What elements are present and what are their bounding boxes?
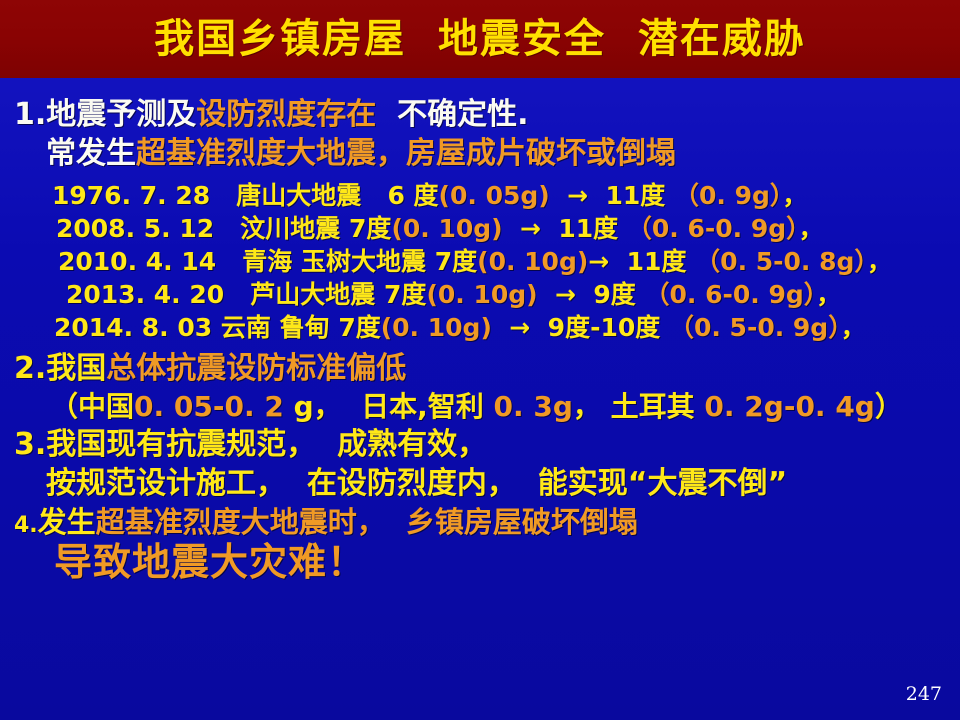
quake-1-date: 1976. 7. 28 <box>52 181 210 210</box>
quake-1-actual-g: （0. 9g） <box>674 181 782 210</box>
item-2-sub-open: （中国 <box>50 390 134 423</box>
quake-2-design-degree: 7度 <box>349 214 391 243</box>
quake-4-arrow-icon: → <box>555 280 576 309</box>
item-2-sub-value-china: 0. 05-0. 2 <box>134 390 284 423</box>
item-1-text-a: 地震予测及 <box>46 97 196 132</box>
quake-5-design-g: (0. 10g) <box>381 313 492 342</box>
quake-1-name: 唐山大地震 <box>236 181 361 210</box>
quake-4-actual-g: （0. 6-0. 9g） <box>645 280 817 309</box>
item-2-sub-unit: g， <box>284 390 342 423</box>
quake-3-actual-g: （0. 5-0. 8g） <box>695 247 867 276</box>
quake-5-actual-g: （0. 5-0. 9g） <box>669 313 841 342</box>
quake-3-actual-degree: 11度 <box>627 247 687 276</box>
list-item-1: 1.地震予测及设防烈度存在 不确定性. <box>14 100 948 130</box>
item-4-text-b: 超基准烈度大地震时， 乡镇房屋破坏倒塌 <box>96 505 638 539</box>
title-banner: 我国乡镇房屋 地震安全 潜在威胁 <box>0 0 960 78</box>
quake-3-arrow-icon: → <box>588 247 609 276</box>
quake-row-3: 2010. 4. 14 青海 玉树大地震 7度(0. 10g)→ 11度 （0.… <box>14 249 948 274</box>
item-2-text-b: 总体抗震设防标准偏低 <box>106 351 406 386</box>
quake-2-actual-degree: 11度 <box>558 214 618 243</box>
item-3-number: 3. <box>14 427 46 462</box>
list-item-4: 4.发生超基准烈度大地震时， 乡镇房屋破坏倒塌 <box>14 508 948 537</box>
list-item-3-sub: 按规范设计施工， 在设防烈度内， 能实现“大震不倒” <box>14 469 948 499</box>
conclusion-label: 导致地震大灾难！ <box>54 540 366 584</box>
quake-5-actual-degree: 9度-10度 <box>548 313 661 342</box>
item-2-sub-value-3: 0. 2g-0. 4g <box>695 390 875 423</box>
item-1-text-c: 不确定性. <box>376 97 528 132</box>
item-2-number: 2. <box>14 351 46 386</box>
quake-5-tail: ， <box>841 313 866 342</box>
slide-root: 我国乡镇房屋 地震安全 潜在威胁 1.地震予测及设防烈度存在 不确定性. 常发生… <box>0 0 960 720</box>
quake-5-arrow-icon: → <box>509 313 530 342</box>
quake-4-name: 芦山大地震 <box>250 280 375 309</box>
item-1-sub-b: 超基准烈度大地震，房屋成片破坏或倒塌 <box>136 136 676 171</box>
quake-3-design-degree: 7度 <box>435 247 477 276</box>
quake-4-tail: ， <box>816 280 841 309</box>
quake-3-tail: ， <box>867 247 892 276</box>
item-2-sub-country-3: 土耳其 <box>611 390 695 423</box>
conclusion-text: 导致地震大灾难！ <box>14 543 948 581</box>
item-4-text-a: 发生 <box>38 505 96 539</box>
list-item-2: 2.我国总体抗震设防标准偏低 <box>14 354 948 384</box>
quake-5-design-degree: 7度 <box>338 313 380 342</box>
item-3-sub-text: 按规范设计施工， 在设防烈度内， 能实现“大震不倒” <box>46 466 787 501</box>
quake-4-design-degree: 7度 <box>384 280 426 309</box>
item-1-text-b: 设防烈度存在 <box>196 97 376 132</box>
quake-row-2: 2008. 5. 12 汶川地震 7度(0. 10g) → 11度 （0. 6-… <box>14 216 948 241</box>
quake-2-design-g: (0. 10g) <box>391 214 502 243</box>
quake-5-date: 2014. 8. 03 <box>54 313 212 342</box>
item-2-sub-country-2: 日本,智利 <box>361 390 484 423</box>
item-2-sub-value-2: 0. 3g <box>484 390 573 423</box>
quake-2-actual-g: （0. 6-0. 9g） <box>627 214 799 243</box>
list-item-2-sub: （中国0. 05-0. 2 g， 日本,智利 0. 3g， 土耳其 0. 2g-… <box>14 393 948 421</box>
quake-1-actual-degree: 11度 <box>605 181 665 210</box>
quake-2-date: 2008. 5. 12 <box>56 214 214 243</box>
item-4-number: 4. <box>14 513 38 538</box>
quake-row-5: 2014. 8. 03 云南 鲁甸 7度(0. 10g) → 9度-10度 （0… <box>14 315 948 340</box>
quake-1-design-g: (0. 05g) <box>439 181 550 210</box>
quake-1-arrow-icon: → <box>567 181 588 210</box>
quake-row-1: 1976. 7. 28 唐山大地震 6 度(0. 05g) → 11度 （0. … <box>14 183 948 208</box>
slide-body: 1.地震予测及设防烈度存在 不确定性. 常发生超基准烈度大地震，房屋成片破坏或倒… <box>0 78 960 720</box>
list-item-1-sub: 常发生超基准烈度大地震，房屋成片破坏或倒塌 <box>14 139 948 169</box>
quake-4-design-g: (0. 10g) <box>426 280 537 309</box>
quake-4-date: 2013. 4. 20 <box>66 280 224 309</box>
item-2-sub-close: ） <box>875 390 903 423</box>
quake-1-tail: ， <box>782 181 807 210</box>
quake-1-design-degree: 6 度 <box>387 181 438 210</box>
quake-4-actual-degree: 9度 <box>593 280 635 309</box>
quake-2-name: 汶川地震 <box>240 214 340 243</box>
page-title: 我国乡镇房屋 地震安全 潜在威胁 <box>154 19 806 59</box>
quake-3-date: 2010. 4. 14 <box>58 247 216 276</box>
item-3-text: 我国现有抗震规范， 成熟有效， <box>46 427 487 462</box>
quake-3-name: 青海 玉树大地震 <box>242 247 426 276</box>
quake-row-4: 2013. 4. 20 芦山大地震 7度(0. 10g) → 9度 （0. 6-… <box>14 282 948 307</box>
item-2-sub-sep: ， <box>573 390 601 423</box>
quake-3-design-g: (0. 10g) <box>477 247 588 276</box>
quake-2-arrow-icon: → <box>520 214 541 243</box>
item-2-text-a: 我国 <box>46 351 106 386</box>
page-number: 247 <box>906 685 942 704</box>
list-item-3: 3.我国现有抗震规范， 成熟有效， <box>14 430 948 460</box>
item-1-number: 1. <box>14 97 46 132</box>
quake-2-tail: ， <box>799 214 824 243</box>
item-1-sub-a: 常发生 <box>46 136 136 171</box>
quake-5-name: 云南 鲁甸 <box>221 313 330 342</box>
